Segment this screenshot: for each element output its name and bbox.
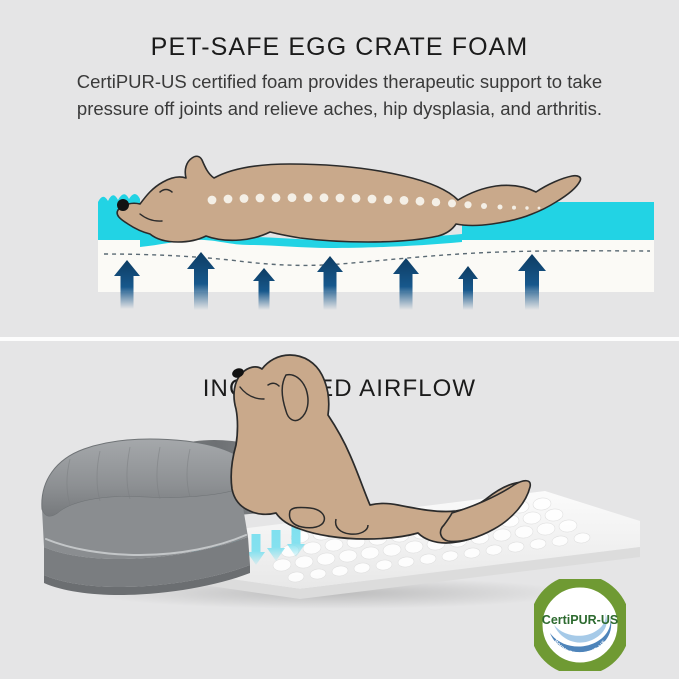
page-title: PET-SAFE EGG CRATE FOAM (0, 33, 679, 62)
subtitle-line-1: CertiPUR-US certified foam provides ther… (18, 68, 661, 95)
panel-pet-safe-egg-crate-foam: PET-SAFE EGG CRATE FOAM CertiPUR-US cert… (0, 0, 679, 337)
certipur-us-badge: CONTAINS CERTIFIED FLEXIBLE POLYURETHANE… (534, 579, 626, 671)
subtitle-line-2: pressure off joints and relieve aches, h… (18, 95, 661, 122)
badge-center-text: CertiPUR-US (542, 613, 618, 627)
base-foam-layer (98, 240, 654, 292)
dog-nose-icon (117, 199, 129, 211)
dog-lying-on-foam-illustration (0, 132, 679, 337)
subtitle: CertiPUR-US certified foam provides ther… (18, 68, 661, 122)
dog-front-paw (290, 507, 325, 527)
panel-increased-airflow: INCREASED AIRFLOW (0, 341, 679, 679)
